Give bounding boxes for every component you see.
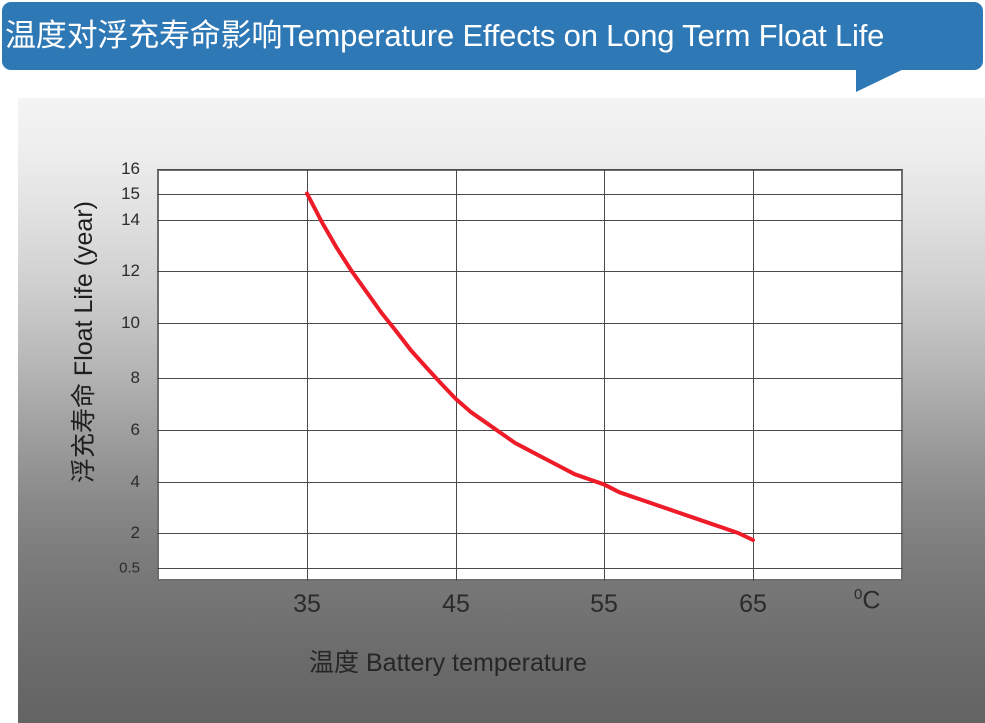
float-life-chart: 16 15 14 12 10 8 6 4 2 0.5 35 45 55 65 0… bbox=[18, 98, 985, 723]
x-axis-title: 温度 Battery temperature bbox=[18, 643, 878, 679]
celsius-letter: C bbox=[862, 586, 880, 614]
speech-bubble-tail-icon bbox=[856, 66, 910, 92]
float-life-curve bbox=[157, 169, 903, 581]
curve-line bbox=[307, 194, 753, 541]
banner-title: 温度对浮充寿命影响Temperature Effects on Long Ter… bbox=[2, 19, 884, 53]
y-axis-title: 浮充寿命 Float Life (year) bbox=[64, 132, 100, 552]
x-axis-unit-label: 0C bbox=[854, 586, 880, 615]
ytick-label-0.5: 0.5 bbox=[92, 560, 140, 577]
chart-panel: 16 15 14 12 10 8 6 4 2 0.5 35 45 55 65 0… bbox=[18, 98, 985, 723]
xtick-label-35: 35 bbox=[262, 590, 352, 619]
header-banner-container: 温度对浮充寿命影响Temperature Effects on Long Ter… bbox=[0, 0, 985, 95]
xtick-label-55: 55 bbox=[559, 590, 649, 619]
xtick-label-65: 65 bbox=[708, 590, 798, 619]
xtick-label-45: 45 bbox=[411, 590, 501, 619]
header-banner: 温度对浮充寿命影响Temperature Effects on Long Ter… bbox=[2, 2, 983, 70]
